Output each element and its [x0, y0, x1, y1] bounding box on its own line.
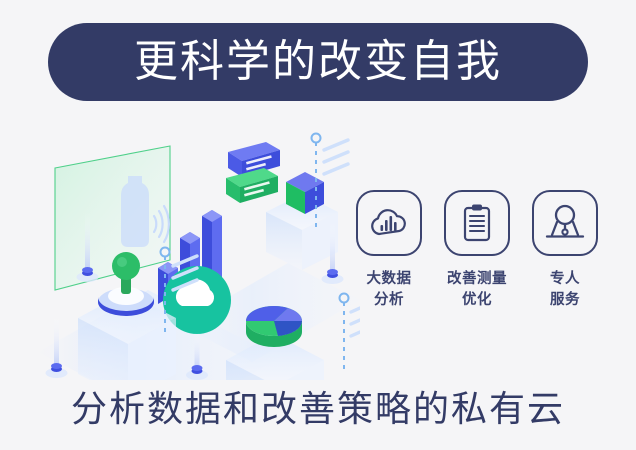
- headline-pill: 更科学的改变自我: [48, 23, 588, 101]
- feature-big-data-analysis[interactable]: 大数据 分析: [352, 190, 426, 310]
- headline-text: 更科学的改变自我: [134, 40, 502, 84]
- tagline-text: 分析数据和改善策略的私有云: [0, 380, 636, 432]
- feature-label-line2: 分析: [374, 292, 404, 308]
- pie-chart-3d: [246, 306, 302, 347]
- cloud-bar-chart-icon: [356, 190, 422, 256]
- feature-label: 改善测量 优化: [447, 269, 507, 310]
- feature-dedicated-service[interactable]: 专人 服务: [528, 190, 602, 310]
- feature-label-line1: 改善测量: [447, 271, 507, 287]
- bottle-silhouette: [121, 176, 149, 247]
- promo-banner: 更科学的改变自我: [0, 0, 636, 450]
- isometric-illustration: [30, 120, 360, 380]
- feature-label-line2: 服务: [550, 292, 580, 308]
- feature-label-line1: 大数据: [367, 271, 412, 287]
- feature-label: 大数据 分析: [367, 269, 412, 310]
- info-card-green: [226, 168, 278, 203]
- feature-list: 大数据 分析 改善测量 优化: [352, 190, 602, 330]
- feature-label: 专人 服务: [550, 269, 580, 310]
- feature-label-line1: 专人: [550, 271, 580, 287]
- feature-measure-optimize[interactable]: 改善测量 优化: [440, 190, 514, 310]
- support-agent-icon: [532, 190, 598, 256]
- clipboard-icon: [444, 190, 510, 256]
- feature-label-line2: 优化: [462, 292, 492, 308]
